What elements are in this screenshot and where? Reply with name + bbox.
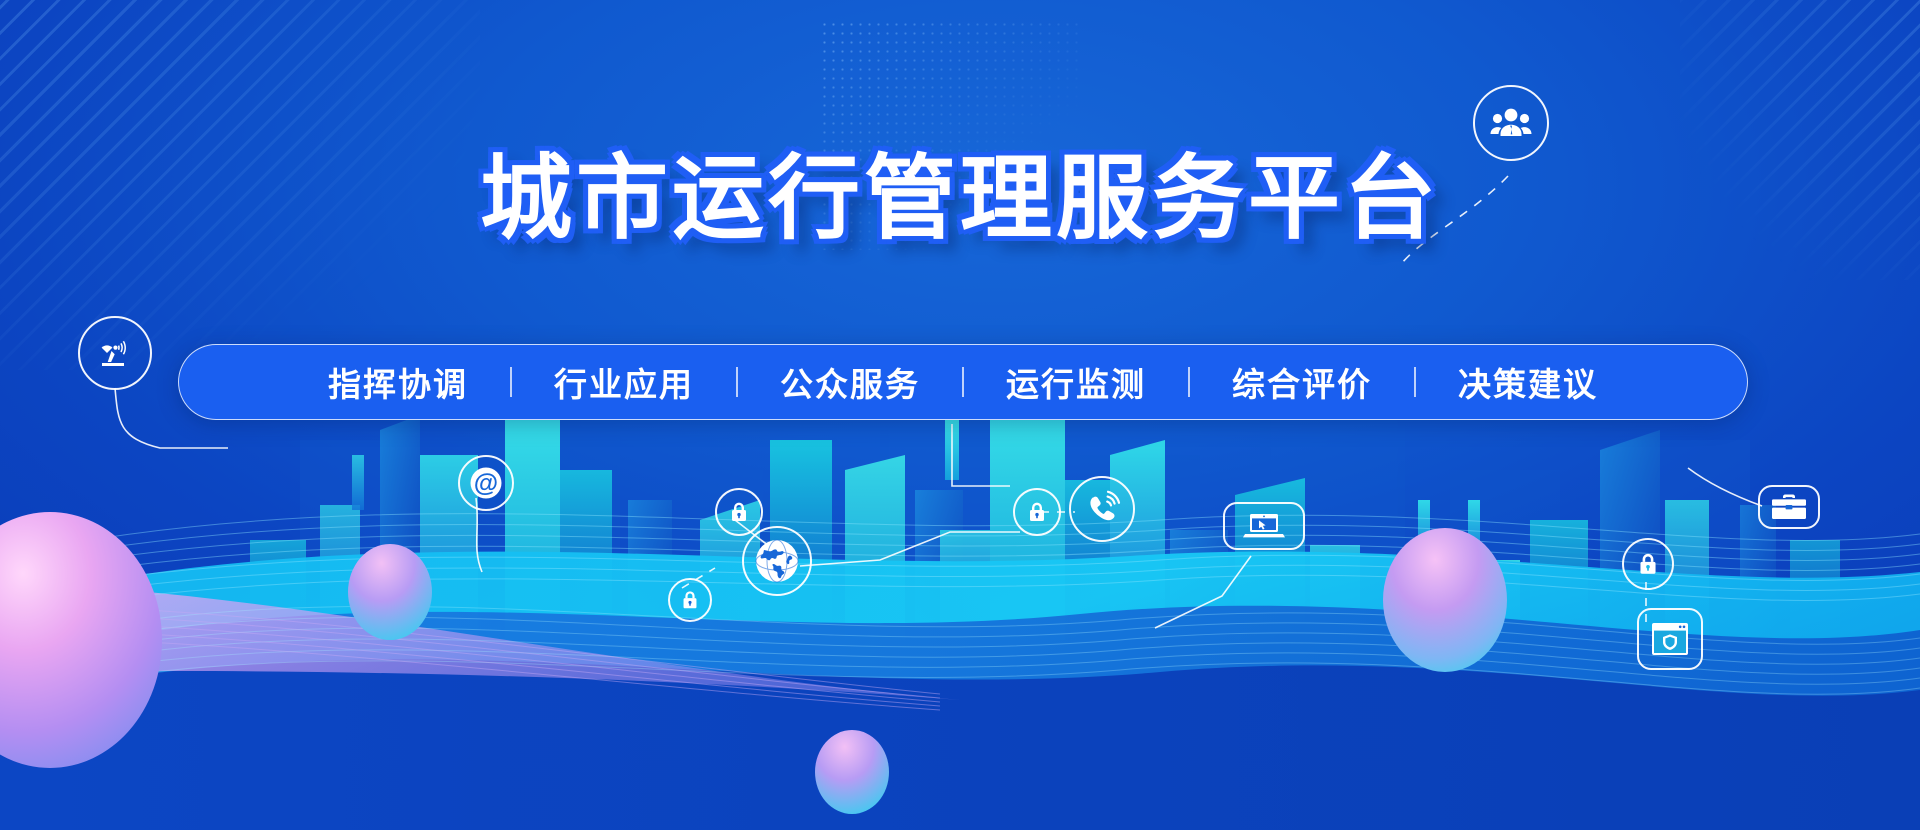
satellite-dish-icon — [78, 316, 152, 390]
lock-icon-3 — [1013, 488, 1061, 536]
nav-item-command-coordination[interactable]: 指挥协调 — [286, 358, 510, 406]
globe-icon — [742, 526, 812, 596]
nav-item-comprehensive-evaluation[interactable]: 综合评价 — [1190, 358, 1414, 406]
nav-item-operation-monitoring[interactable]: 运行监测 — [964, 358, 1188, 406]
nav-item-industry-application[interactable]: 行业应用 — [512, 358, 736, 406]
city-platform-banner: 城市运行管理服务平台 指挥协调 行业应用 公众服务 运行监测 综合评价 决策建议 — [0, 0, 1920, 830]
laptop-cursor-icon — [1223, 502, 1305, 550]
main-nav-pill[interactable]: 指挥协调 行业应用 公众服务 运行监测 综合评价 决策建议 — [178, 344, 1748, 420]
at-sign-icon: @ — [458, 455, 514, 511]
phone-call-icon — [1069, 476, 1135, 542]
nav-item-decision-suggestion[interactable]: 决策建议 — [1416, 358, 1640, 406]
lock-icon-1 — [715, 488, 763, 536]
briefcase-icon — [1758, 485, 1820, 529]
lock-icon-2 — [668, 578, 712, 622]
page-title: 城市运行管理服务平台 — [480, 148, 1440, 251]
svg-text:@: @ — [474, 470, 498, 498]
nav-item-public-service[interactable]: 公众服务 — [738, 358, 962, 406]
lock-icon-4 — [1622, 538, 1674, 590]
page-title-wrap: 城市运行管理服务平台 — [0, 148, 1920, 251]
browser-shield-icon — [1637, 608, 1703, 670]
